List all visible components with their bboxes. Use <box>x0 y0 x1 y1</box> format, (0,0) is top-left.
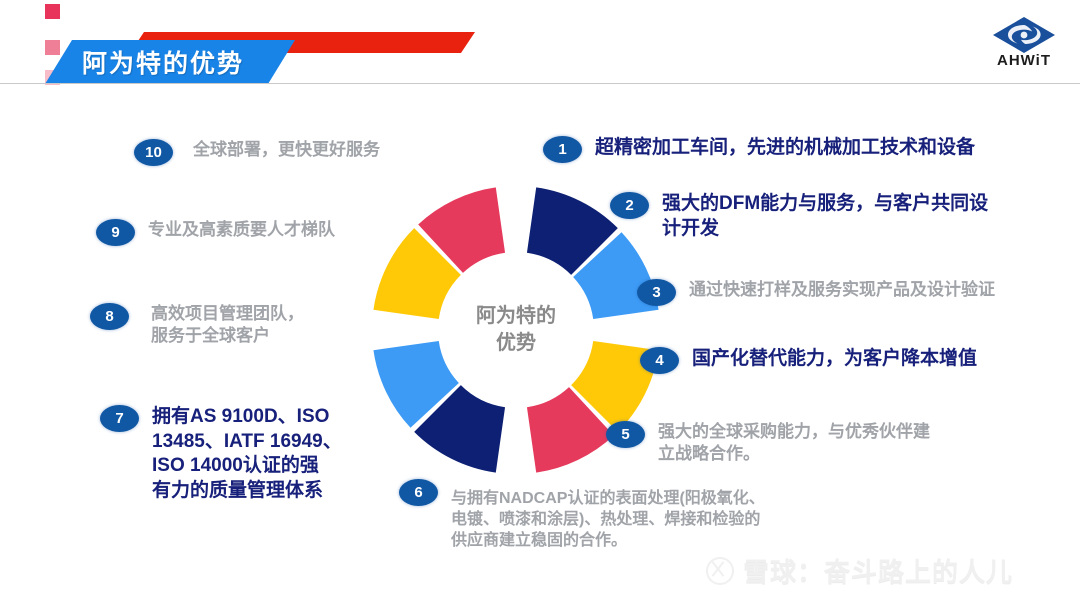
watermark-text: 雪球：奋斗路上的人儿 <box>743 552 1013 589</box>
advantage-badge-1: 1 <box>543 136 582 163</box>
brand-logo: AHWiT <box>980 16 1068 76</box>
advantage-badge-4: 4 <box>640 347 679 374</box>
advantage-item-9[interactable]: 9 专业及高素质要人才梯队 <box>96 219 335 246</box>
advantage-badge-9: 9 <box>96 219 135 246</box>
advantage-text-3: 通过快速打样及服务实现产品及设计验证 <box>689 279 995 301</box>
logo-wordmark: AHWiT <box>980 52 1068 69</box>
advantage-item-6[interactable]: 6 与拥有NADCAP认证的表面处理(阳极氧化、 电镀、喷漆和涂层)、热处理、焊… <box>399 479 765 551</box>
advantage-badge-6: 6 <box>399 479 438 506</box>
page-title: 阿为特的优势 <box>82 44 244 80</box>
deco-square-1 <box>45 4 60 19</box>
xueqiu-circle-icon <box>706 557 734 585</box>
advantage-badge-2: 2 <box>610 192 649 219</box>
advantage-item-2[interactable]: 2 强大的DFM能力与服务，与客户共同设 计开发 <box>610 192 988 241</box>
advantage-item-8[interactable]: 8 高效项目管理团队， 服务于全球客户 <box>90 303 304 347</box>
advantage-text-7: 拥有AS 9100D、ISO 13485、IATF 16949、 ISO 140… <box>152 405 342 504</box>
advantage-badge-3: 3 <box>637 279 676 306</box>
advantage-item-5[interactable]: 5 强大的全球采购能力，与优秀伙伴建 立战略合作。 <box>606 421 930 465</box>
advantage-item-7[interactable]: 7 拥有AS 9100D、ISO 13485、IATF 16949、 ISO 1… <box>100 405 342 504</box>
advantage-text-4: 国产化替代能力，为客户降本增值 <box>692 347 977 372</box>
deco-square-2 <box>45 40 60 55</box>
advantage-text-1: 超精密加工车间，先进的机械加工技术和设备 <box>595 136 975 161</box>
diamond-swirl-logo-icon <box>992 16 1056 54</box>
advantage-text-6: 与拥有NADCAP认证的表面处理(阳极氧化、 电镀、喷漆和涂层)、热处理、焊接和… <box>451 489 765 551</box>
advantage-badge-5: 5 <box>606 421 645 448</box>
advantage-item-1[interactable]: 1 超精密加工车间，先进的机械加工技术和设备 <box>543 136 975 163</box>
advantage-badge-10: 10 <box>134 139 173 166</box>
advantage-text-2: 强大的DFM能力与服务，与客户共同设 计开发 <box>662 192 988 241</box>
advantage-text-5: 强大的全球采购能力，与优秀伙伴建 立战略合作。 <box>658 421 930 465</box>
advantage-item-10[interactable]: 10 全球部署，更快更好服务 <box>134 139 380 166</box>
advantage-badge-7: 7 <box>100 405 139 432</box>
advantage-item-3[interactable]: 3 通过快速打样及服务实现产品及设计验证 <box>637 279 995 306</box>
advantage-item-4[interactable]: 4 国产化替代能力，为客户降本增值 <box>640 347 977 374</box>
advantage-text-8: 高效项目管理团队， 服务于全球客户 <box>151 303 304 347</box>
advantage-text-10: 全球部署，更快更好服务 <box>193 139 380 161</box>
advantage-text-9: 专业及高素质要人才梯队 <box>148 219 335 241</box>
header-divider <box>0 83 1080 84</box>
advantage-badge-8: 8 <box>90 303 129 330</box>
slide-canvas: 阿为特的优势 AHWiT <box>0 0 1080 605</box>
watermark: 雪球：奋斗路上的人儿 <box>706 552 1013 589</box>
